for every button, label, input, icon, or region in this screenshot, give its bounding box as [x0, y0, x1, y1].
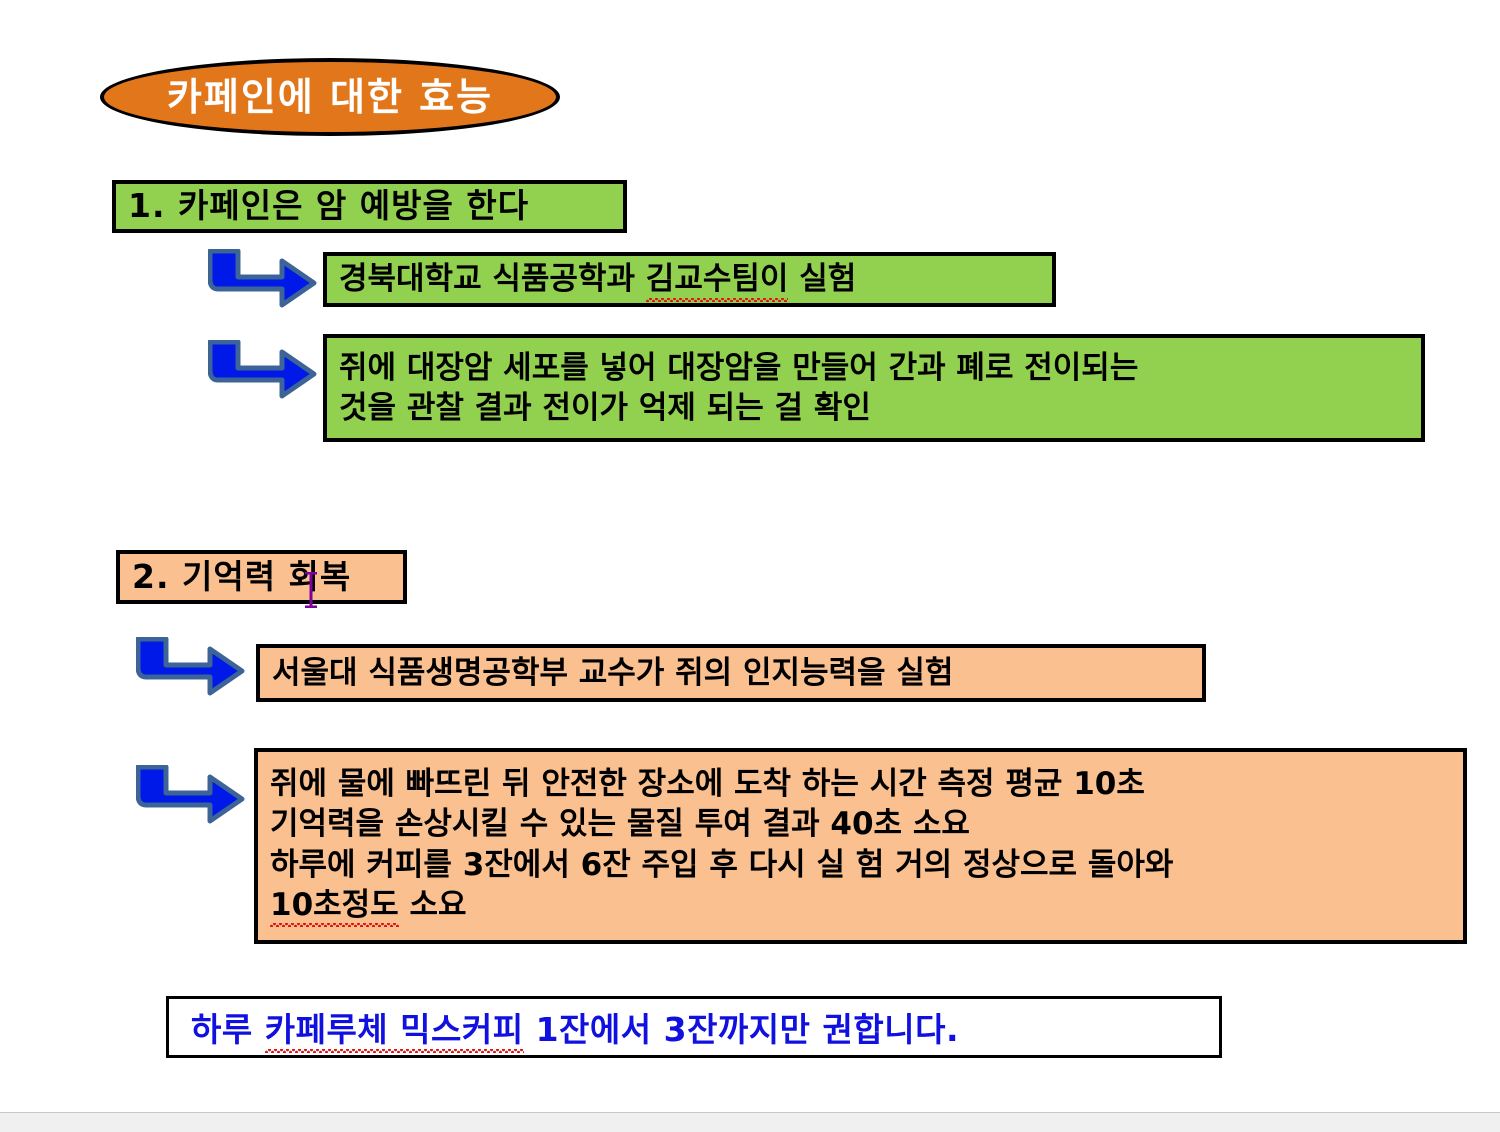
slide-title-pill: 카페인에 대한 효능 — [100, 58, 560, 136]
spellcheck-underline: 카페루체 믹스커피 — [265, 1003, 524, 1051]
section-2-item-1-text: 서울대 식품생명공학부 교수가 쥐의 인지능력을 실험 — [260, 651, 963, 695]
slide-canvas: 카페인에 대한 효능 1. 카페인은 암 예방을 한다 경북대학교 식품공학과 … — [0, 0, 1500, 1132]
conclusion-box: 하루 카페루체 믹스커피 1잔에서 3잔까지만 권합니다. — [166, 996, 1222, 1058]
elbow-arrow-icon — [208, 249, 320, 313]
section-2-item-2-box: 쥐에 물에 빠뜨린 뒤 안전한 장소에 도착 하는 시간 측정 평균 10초기억… — [254, 748, 1467, 944]
section-1-item-1-text: 경북대학교 식품공학과 김교수팀이 실험 — [327, 257, 866, 301]
section-2-heading-box: 2. 기억력 회복 — [116, 550, 407, 604]
spellcheck-underline: 김교수팀이 — [646, 259, 789, 299]
section-1-item-2-box: 쥐에 대장암 세포를 넣어 대장암을 만들어 간과 폐로 전이되는 것을 관찰 … — [323, 334, 1425, 442]
elbow-arrow-icon — [136, 765, 248, 829]
elbow-arrow-icon — [208, 340, 320, 404]
conclusion-text: 하루 카페루체 믹스커피 1잔에서 3잔까지만 권합니다. — [169, 1003, 959, 1051]
section-1-heading-box: 1. 카페인은 암 예방을 한다 — [112, 180, 627, 233]
section-2-heading-text: 2. 기억력 회복 — [120, 554, 361, 601]
section-1-item-1-box: 경북대학교 식품공학과 김교수팀이 실험 — [323, 252, 1056, 307]
section-1-item-2-text: 쥐에 대장암 세포를 넣어 대장암을 만들어 간과 폐로 전이되는 것을 관찰 … — [327, 346, 1148, 431]
section-2-item-1-box: 서울대 식품생명공학부 교수가 쥐의 인지능력을 실험 — [256, 644, 1206, 702]
viewer-bottom-strip — [0, 1112, 1500, 1132]
text-cursor-icon — [303, 572, 319, 608]
section-2-item-2-text: 쥐에 물에 빠뜨린 뒤 안전한 장소에 도착 하는 시간 측정 평균 10초기억… — [258, 752, 1183, 927]
page-title: 카페인에 대한 효능 — [167, 78, 493, 116]
spellcheck-underline: 10초정도 — [270, 885, 399, 925]
section-1-heading-text: 1. 카페인은 암 예방을 한다 — [116, 183, 539, 230]
elbow-arrow-icon — [136, 637, 248, 701]
